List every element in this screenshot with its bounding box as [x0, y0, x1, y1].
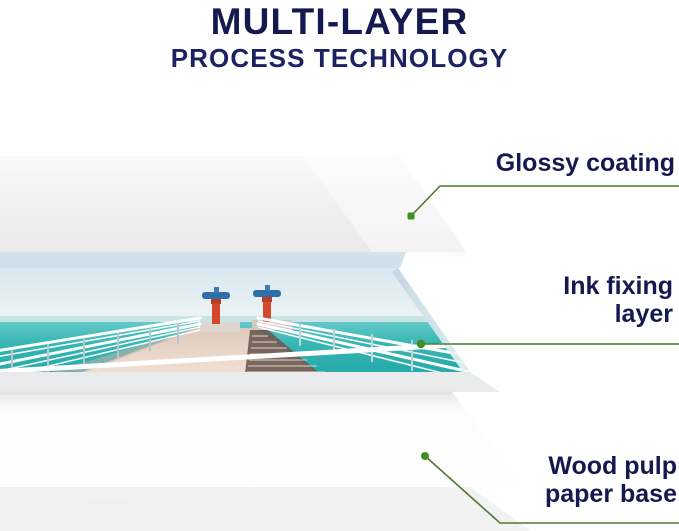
callout-label-glossy-coating: Glossy coating — [335, 149, 675, 177]
title-line-2: PROCESS TECHNOLOGY — [0, 43, 679, 73]
title-line-1: MULTI-LAYER — [0, 2, 679, 42]
photo-slab-top-face — [0, 252, 406, 268]
leader-line-glossy — [411, 186, 679, 216]
slide-canvas: MULTI-LAYER PROCESS TECHNOLOGY — [0, 0, 679, 531]
callout-label-ink-fixing-layer: Ink fixing layer — [373, 272, 673, 328]
callout-leader-glossy-coating — [408, 186, 679, 220]
leader-dot-ink — [417, 340, 425, 348]
callout-leader-ink-fixing-layer — [417, 340, 679, 348]
leader-dot-glossy — [408, 213, 415, 220]
photo-slab-underside — [0, 372, 500, 392]
page-title: MULTI-LAYER PROCESS TECHNOLOGY — [0, 0, 679, 73]
callout-label-wood-pulp-paper-base: Wood pulp paper base — [357, 452, 677, 508]
